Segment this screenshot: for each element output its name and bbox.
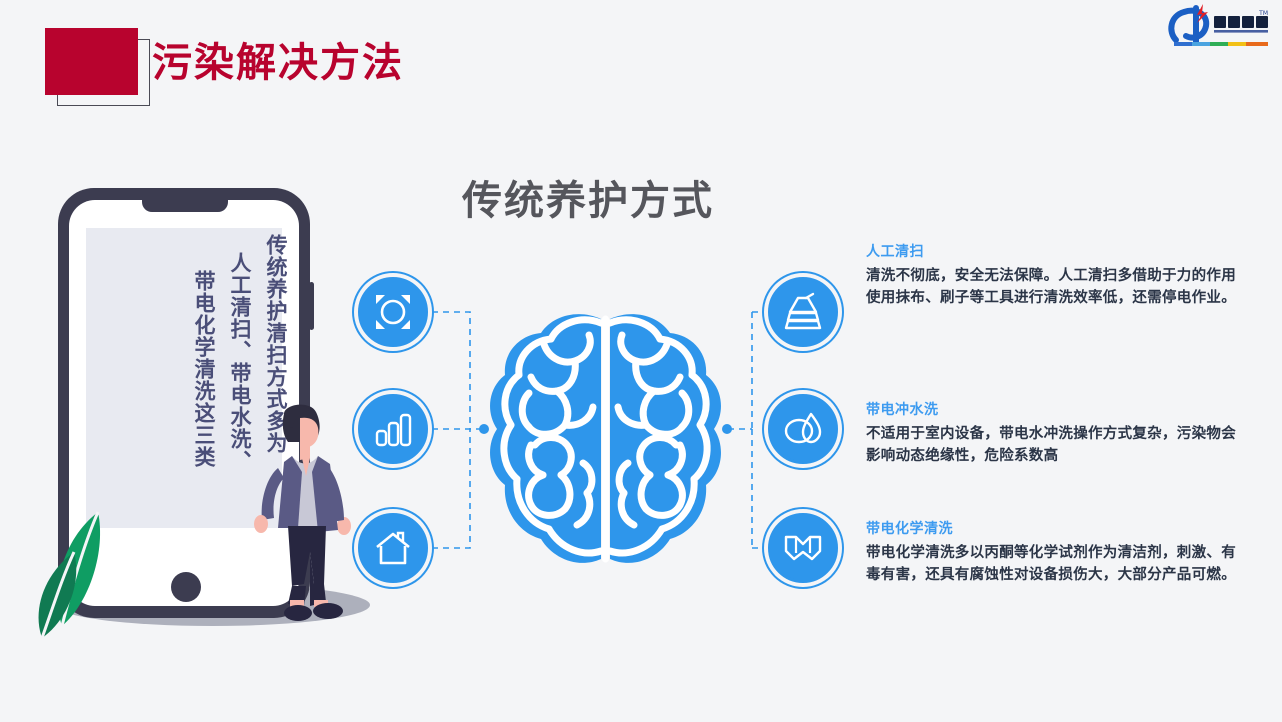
logo-svg — [1166, 2, 1274, 50]
phone-text-line-3: 带电化学清洗这三类 — [193, 270, 214, 468]
phone-illustration: 传统养护清扫方式多为 人工清扫、带电水洗、 带电化学清洗这三类 — [30, 180, 370, 670]
logo-brand-cn — [1214, 16, 1268, 28]
water-drop-icon[interactable] — [768, 394, 838, 464]
handshake-icon[interactable] — [768, 513, 838, 583]
text-block-body: 清洗不彻底，安全无法保障。人工清扫多借助于力的作用使用抹布、刷子等工具进行清洗效… — [866, 265, 1246, 309]
leaf-icon-2 — [30, 548, 82, 640]
text-block-body: 带电化学清洗多以丙酮等化学试剂作为清洁剂，刺激、有毒有害，还具有腐蚀性对设备损伤… — [866, 542, 1246, 586]
person-illustration — [248, 402, 358, 624]
handshake-glyph — [782, 527, 824, 569]
slide-root: 污染解决方法 TM — [0, 0, 1282, 722]
text-block-title: 带电化学清洗 — [866, 518, 1246, 538]
phone-text-line-2: 人工清扫、带电水洗、 — [229, 252, 250, 472]
text-block-live-chemical-wash: 带电化学清洗 带电化学清洗多以丙酮等化学试剂作为清洁剂，刺激、有毒有害，还具有腐… — [866, 518, 1246, 586]
phone-notch — [142, 196, 228, 212]
home-icon[interactable] — [358, 513, 428, 583]
water-drop-glyph — [782, 408, 824, 450]
logo-trademark: TM — [1259, 10, 1268, 17]
focus-frame-icon[interactable] — [358, 277, 428, 347]
phone-home-button — [171, 572, 201, 602]
text-block-body: 不适用于室内设备，带电水冲洗操作方式复杂，污染物会影响动态绝缘性，危险系数高 — [866, 423, 1246, 467]
header-square-solid — [45, 28, 138, 95]
brain-illustration — [483, 303, 728, 583]
bar-chart-icon[interactable] — [358, 394, 428, 464]
home-glyph — [373, 528, 413, 568]
main-heading: 传统养护方式 — [462, 168, 714, 226]
bar-chart-glyph — [373, 409, 413, 449]
text-block-title: 带电冲水洗 — [866, 399, 1246, 419]
phone-side-button — [309, 282, 314, 330]
text-block-manual-cleaning: 人工清扫 清洗不彻底，安全无法保障。人工清扫多借助于力的作用使用抹布、刷子等工具… — [866, 241, 1246, 309]
text-block-live-water-wash: 带电冲水洗 不适用于室内设备，带电水冲洗操作方式复杂，污染物会影响动态绝缘性，危… — [866, 399, 1246, 467]
focus-frame-glyph — [373, 292, 413, 332]
company-logo: TM — [1166, 2, 1274, 50]
broom-stack-icon[interactable] — [768, 277, 838, 347]
text-block-title: 人工清扫 — [866, 241, 1246, 261]
page-title: 污染解决方法 — [152, 41, 404, 85]
broom-stack-glyph — [782, 291, 824, 333]
logo-brand-en — [1214, 30, 1268, 33]
